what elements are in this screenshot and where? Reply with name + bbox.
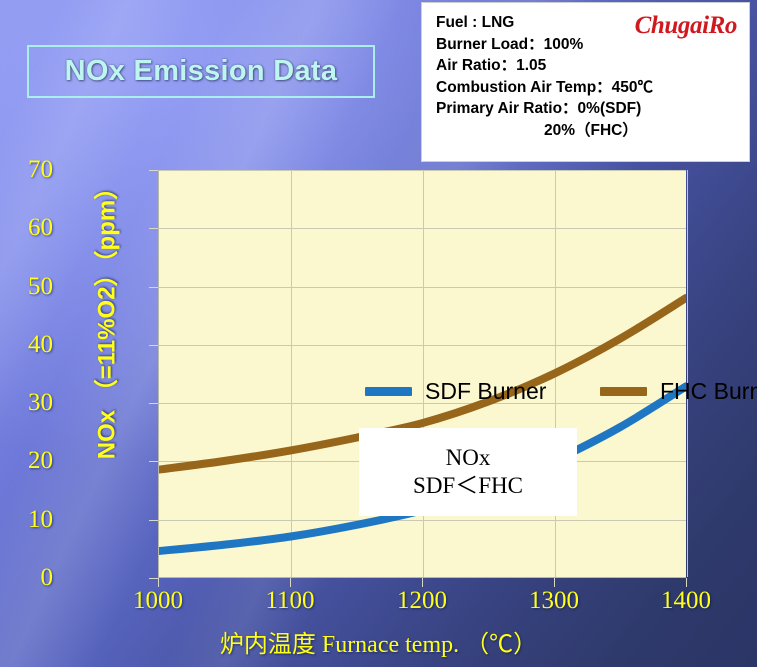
annotation-box: NOx SDF＜FHC (359, 428, 577, 516)
y-axis-label: NOx （=11%O2）（ppm） (87, 118, 122, 518)
y-axis-tick-mark (149, 403, 158, 404)
page-title: NOx Emission Data (65, 55, 338, 88)
legend-item-sdf: SDF Burner (365, 378, 546, 405)
chart-series-svg (159, 170, 686, 577)
legend-label-fhc: FHC Burner (660, 378, 757, 405)
x-axis-tick-label: 1400 (641, 588, 731, 613)
gridline-vertical (687, 170, 688, 577)
info-line-air-ratio: Air Ratio：1.05 (436, 55, 749, 77)
x-axis-tick-label: 1100 (245, 588, 335, 613)
y-axis-tick-mark (149, 578, 158, 579)
y-axis-tick-label: 20 (7, 448, 53, 473)
info-line-combustion-air-temp: Combustion Air Temp：450℃ (436, 77, 749, 99)
x-axis-tick-label: 1000 (113, 588, 203, 613)
y-axis-tick-label: 0 (7, 565, 53, 590)
chart-plot-area: SDF Burner FHC Burner NOx SDF＜FHC (158, 170, 686, 578)
y-axis-tick-label: 30 (7, 390, 53, 415)
legend-swatch-fhc (600, 387, 647, 396)
info-line-primary-air-ratio-fhc: 20%（FHC） (436, 120, 749, 142)
y-axis-tick-label: 40 (7, 332, 53, 357)
legend-swatch-sdf (365, 387, 412, 396)
x-axis-tick-mark (422, 578, 423, 587)
x-axis-tick-label: 1200 (377, 588, 467, 613)
chugai-ro-logo: ChugaiRo (635, 12, 737, 40)
y-axis-tick-mark (149, 520, 158, 521)
legend-item-fhc: FHC Burner (600, 378, 757, 405)
y-axis-tick-mark (149, 170, 158, 171)
annotation-line-2: SDF＜FHC (413, 472, 523, 500)
x-axis-tick-mark (158, 578, 159, 587)
x-axis-tick-mark (686, 578, 687, 587)
chart-legend: SDF Burner FHC Burner (365, 378, 757, 408)
x-axis-tick-mark (290, 578, 291, 587)
legend-label-sdf: SDF Burner (425, 378, 546, 405)
y-axis-tick-mark (149, 345, 158, 346)
x-axis-tick-mark (554, 578, 555, 587)
x-axis-label: 炉内温度 Furnace temp. （℃） (0, 624, 757, 659)
y-axis-tick-label: 70 (7, 157, 53, 182)
y-axis-tick-label: 50 (7, 274, 53, 299)
y-axis-tick-label: 10 (7, 507, 53, 532)
info-line-primary-air-ratio: Primary Air Ratio：0%(SDF) (436, 98, 749, 120)
y-axis-tick-mark (149, 461, 158, 462)
y-axis-tick-label: 60 (7, 215, 53, 240)
y-axis-tick-mark (149, 287, 158, 288)
conditions-info-box: Fuel : LNG Burner Load：100% Air Ratio：1.… (421, 2, 750, 162)
x-axis-tick-label: 1300 (509, 588, 599, 613)
y-axis-tick-mark (149, 228, 158, 229)
annotation-line-1: NOx (446, 444, 491, 472)
slide-title-box: NOx Emission Data (27, 45, 375, 98)
